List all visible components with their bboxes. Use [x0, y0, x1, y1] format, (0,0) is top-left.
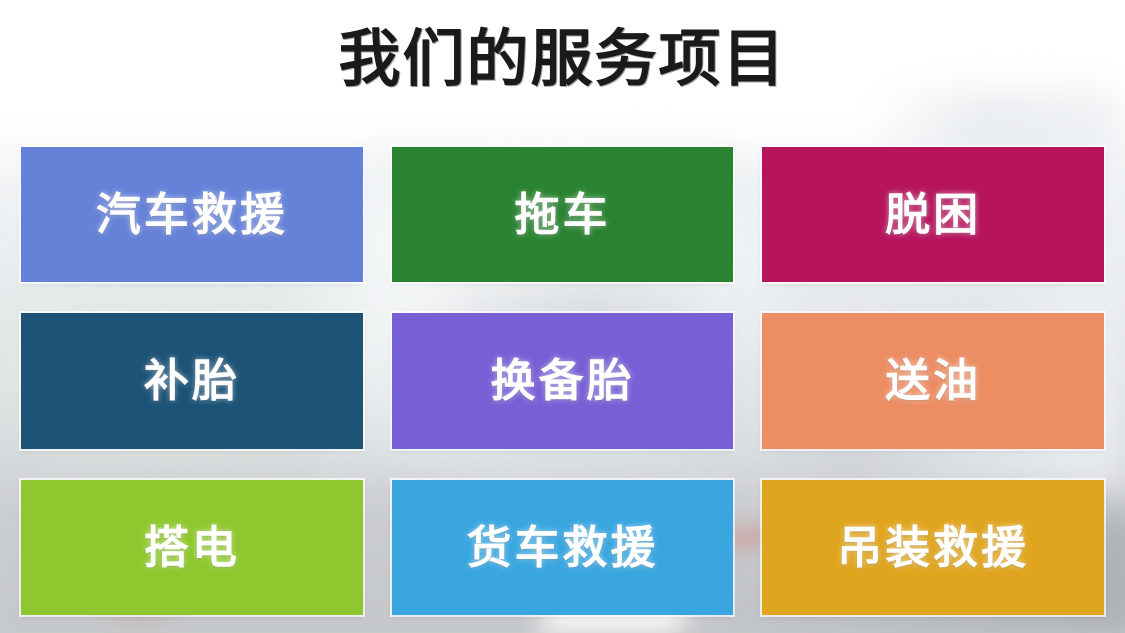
service-tile-extrication[interactable]: 脱困 — [762, 147, 1104, 282]
service-tile-towing[interactable]: 拖车 — [392, 147, 734, 282]
service-tile-label: 换备胎 — [490, 358, 634, 403]
service-tile-label: 补胎 — [144, 358, 240, 403]
service-tile-car-rescue[interactable]: 汽车救援 — [21, 147, 363, 282]
service-grid: 汽车救援 拖车 脱困 补胎 换备胎 送油 搭电 货车救援 吊装救援 — [21, 147, 1104, 615]
service-tile-crane-rescue[interactable]: 吊装救援 — [762, 480, 1104, 615]
service-tile-fuel-delivery[interactable]: 送油 — [762, 313, 1104, 448]
service-poster: 我们的服务项目 汽车救援 拖车 脱困 补胎 换备胎 送油 搭电 货车救援 吊装救… — [0, 0, 1125, 633]
service-tile-label: 汽车救援 — [96, 192, 288, 237]
page-title: 我们的服务项目 — [0, 20, 1125, 100]
service-tile-truck-rescue[interactable]: 货车救援 — [392, 480, 734, 615]
service-tile-label: 送油 — [885, 358, 981, 403]
service-tile-label: 货车救援 — [466, 525, 658, 570]
service-tile-label: 脱困 — [885, 192, 981, 237]
service-tile-jump-start[interactable]: 搭电 — [21, 480, 363, 615]
service-tile-label: 搭电 — [144, 525, 240, 570]
service-tile-tire-repair[interactable]: 补胎 — [21, 313, 363, 448]
service-tile-label: 拖车 — [514, 192, 610, 237]
service-tile-label: 吊装救援 — [837, 525, 1029, 570]
service-tile-spare-tire[interactable]: 换备胎 — [392, 313, 734, 448]
